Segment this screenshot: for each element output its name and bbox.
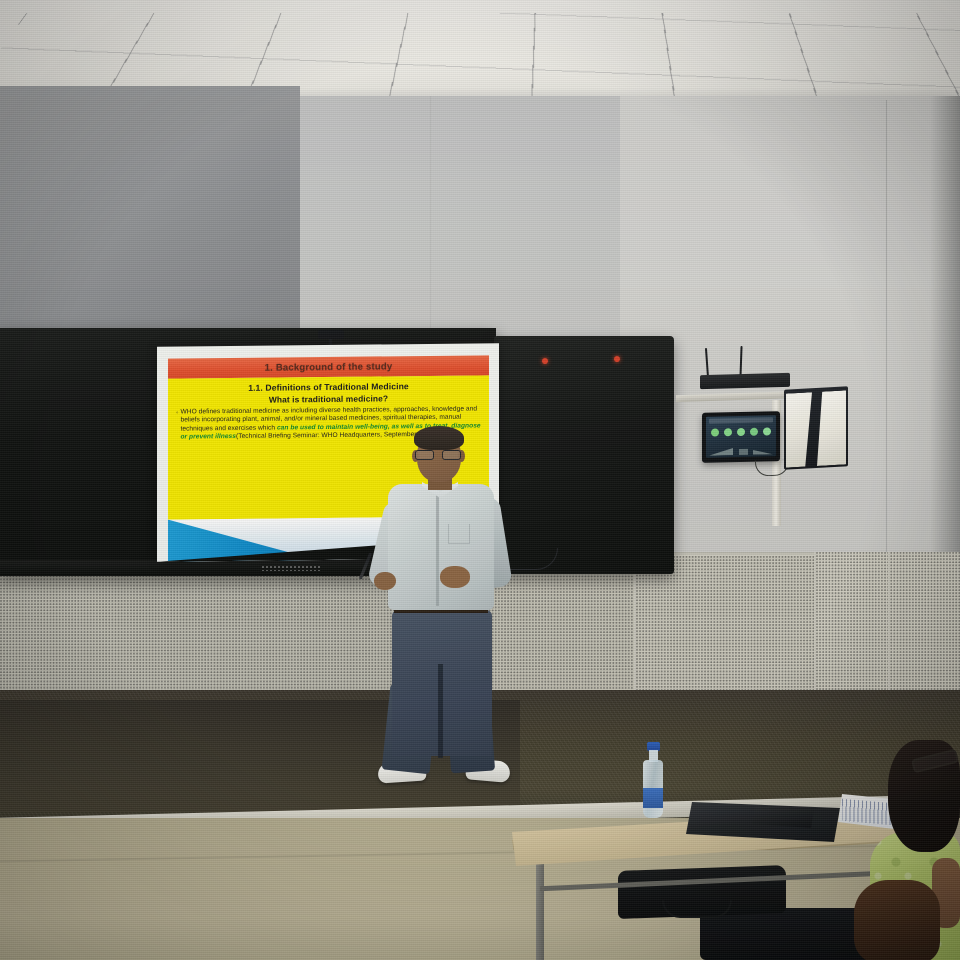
presenter-hand bbox=[440, 566, 470, 588]
glasses-lens bbox=[442, 450, 461, 460]
panel-seam bbox=[814, 552, 816, 712]
tablet-app-icon[interactable] bbox=[737, 428, 745, 436]
display-speaker-grille bbox=[262, 566, 322, 571]
tablet-status-bar bbox=[709, 417, 773, 423]
tablet-graphic bbox=[739, 449, 748, 455]
wall-seam-secondary bbox=[430, 96, 431, 336]
seated-attendee bbox=[846, 740, 960, 960]
tablet-screen[interactable] bbox=[706, 415, 776, 457]
wall-sconce-light bbox=[784, 386, 848, 469]
presenter-leg-seam bbox=[438, 664, 443, 758]
wall-control-tablet[interactable] bbox=[702, 411, 780, 463]
panel-seam bbox=[888, 552, 890, 712]
table-leg bbox=[536, 862, 544, 960]
tablet-app-icon[interactable] bbox=[750, 428, 758, 436]
panel-seam bbox=[634, 556, 636, 706]
wall-corner-shadow bbox=[930, 96, 960, 566]
presenter-hand bbox=[374, 572, 396, 590]
slide-title: 1. Background of the study bbox=[265, 361, 393, 373]
bottle-label bbox=[643, 788, 663, 808]
acoustic-panel bbox=[636, 556, 816, 706]
shirt-placket bbox=[436, 494, 439, 606]
attendee-hair-lower bbox=[854, 880, 940, 960]
tablet-icon-row[interactable] bbox=[711, 426, 771, 437]
presenter-hair bbox=[414, 426, 464, 450]
tablet-app-icon[interactable] bbox=[711, 428, 719, 436]
lecture-hall-photo: 1. Background of the study 1.1. Definiti… bbox=[0, 0, 960, 960]
glasses-icon bbox=[415, 450, 463, 460]
tablet-app-icon[interactable] bbox=[763, 427, 771, 435]
wifi-router bbox=[700, 373, 790, 389]
wall-seam bbox=[886, 100, 887, 560]
tablet-graphic bbox=[753, 446, 773, 454]
upper-left-wall-shadow bbox=[0, 86, 300, 346]
slide-subheading: What is traditional medicine? bbox=[174, 392, 483, 405]
slide-heading: 1.1. Definitions of Traditional Medicine bbox=[174, 380, 483, 393]
tablet-lower-graphics bbox=[709, 442, 773, 455]
tablet-graphic bbox=[709, 446, 733, 456]
led-indicator bbox=[542, 358, 548, 364]
bullet-icon: ◦ bbox=[176, 410, 178, 443]
presenter bbox=[370, 424, 545, 804]
glasses-lens bbox=[415, 450, 434, 460]
led-indicator bbox=[614, 356, 620, 362]
shirt-pocket bbox=[448, 524, 470, 544]
presenter-shirt bbox=[388, 484, 494, 610]
ceiling-mounted-camera-icon bbox=[318, 330, 344, 339]
tablet-app-icon[interactable] bbox=[724, 428, 732, 436]
bag-handle bbox=[662, 900, 732, 918]
